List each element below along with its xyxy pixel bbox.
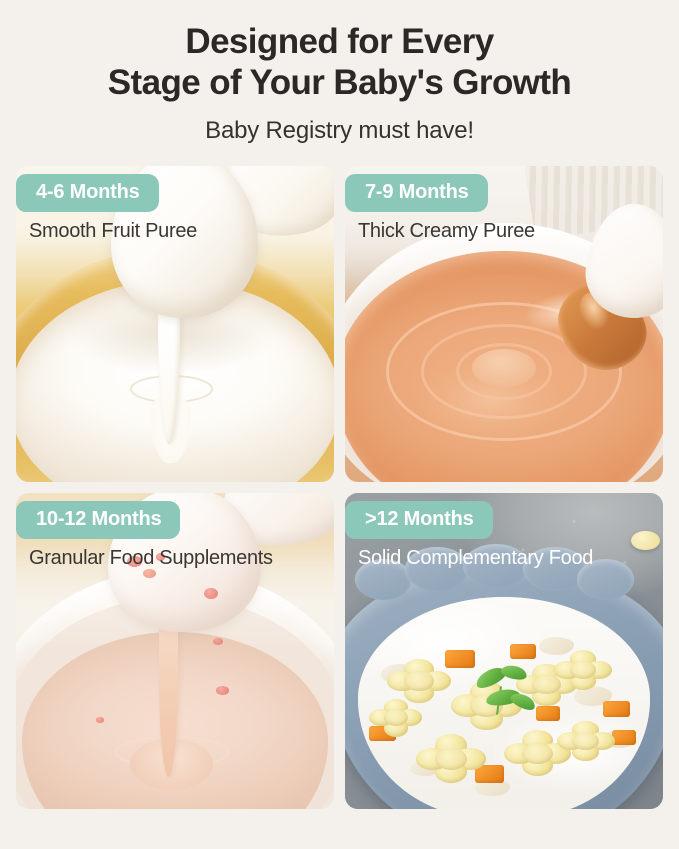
stage-caption: Smooth Fruit Puree: [29, 220, 197, 243]
stage-card-10-12-months[interactable]: 10-12 Months Granular Food Supplements: [16, 493, 334, 809]
page-title: Designed for Every Stage of Your Baby's …: [0, 22, 679, 104]
stage-photo-smooth-fruit-puree: [16, 166, 334, 482]
stage-badge: 10-12 Months: [16, 501, 180, 539]
page-title-line-1: Designed for Every: [185, 22, 493, 61]
stage-caption: Thick Creamy Puree: [358, 220, 535, 243]
stage-photo-granular-food-supplements: [16, 493, 334, 809]
stage-card-4-6-months[interactable]: 4-6 Months Smooth Fruit Puree: [16, 166, 334, 482]
stage-caption: Granular Food Supplements: [29, 547, 273, 570]
stage-badge: 7-9 Months: [345, 174, 488, 212]
page-header: Designed for Every Stage of Your Baby's …: [0, 0, 679, 145]
stage-photo-solid-complementary-food: [345, 493, 663, 809]
promo-page: Designed for Every Stage of Your Baby's …: [0, 0, 679, 849]
stage-caption: Solid Complementary Food: [358, 547, 593, 570]
stage-card-7-9-months[interactable]: 7-9 Months Thick Creamy Puree: [345, 166, 663, 482]
stage-badge: 4-6 Months: [16, 174, 159, 212]
stage-photo-thick-creamy-puree: [345, 166, 663, 482]
page-title-line-2: Stage of Your Baby's Growth: [0, 63, 679, 104]
stage-card-grid: 4-6 Months Smooth Fruit Puree 7-9 Months…: [16, 166, 663, 809]
stage-badge: >12 Months: [345, 501, 493, 539]
page-subtitle: Baby Registry must have!: [0, 117, 679, 145]
stage-card-over-12-months[interactable]: >12 Months Solid Complementary Food: [345, 493, 663, 809]
